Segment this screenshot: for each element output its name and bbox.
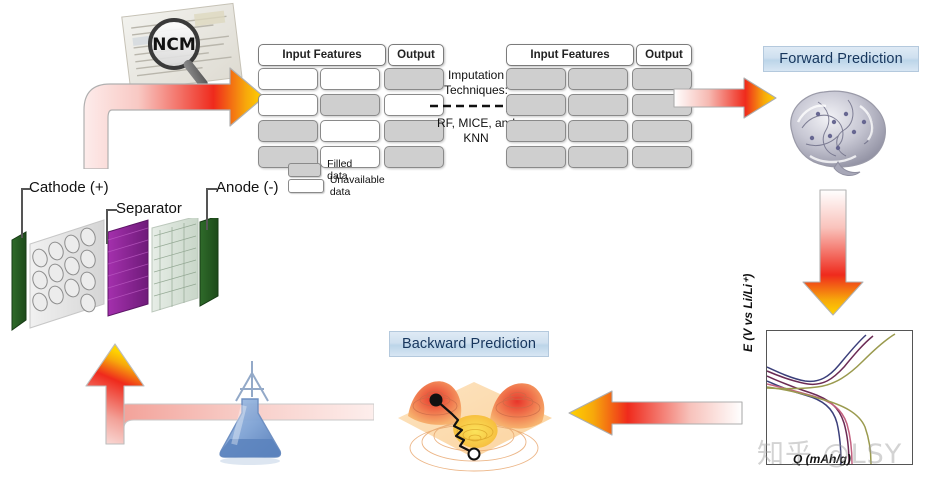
backward-prediction-banner: Backward Prediction [389, 331, 549, 357]
legend-swatch-unavailable [288, 179, 324, 193]
watermark: 知乎 @LSY [757, 432, 902, 471]
table-left-header-input: Input Features [258, 44, 386, 66]
legend-label-unavailable: Unavailable data [330, 174, 393, 198]
battery-label-separator: Separator [116, 200, 182, 217]
table-row [320, 68, 380, 90]
table-row [568, 146, 628, 168]
start-point-marker [430, 394, 443, 407]
table-row [506, 120, 566, 142]
battery-label-anode: Anode (-) [216, 179, 279, 196]
leader-line-anode-vert [206, 188, 208, 230]
table-row [568, 120, 628, 142]
forward-prediction-banner: Forward Prediction [763, 46, 919, 72]
table-right-header-output: Output [636, 44, 692, 66]
table-row [632, 120, 692, 142]
table-row [384, 146, 444, 168]
leader-line-separator-vert [106, 209, 108, 244]
chart-y-axis-label: E (V vs Li/Li⁺) [741, 274, 755, 352]
table-row [632, 146, 692, 168]
table-left-header-output: Output [388, 44, 444, 66]
arrow-forward-to-chart [797, 188, 869, 318]
erlenmeyer-flask-image [200, 355, 300, 465]
leader-line-separator [106, 209, 117, 211]
table-row [258, 68, 318, 90]
arrow-data-to-table [78, 64, 268, 169]
table-row [506, 68, 566, 90]
table-row [320, 94, 380, 116]
leader-line-anode [206, 188, 217, 190]
table-row [506, 94, 566, 116]
table-row [568, 68, 628, 90]
optimization-landscape-image [392, 362, 557, 482]
battery-label-cathode: Cathode (+) [29, 179, 109, 196]
brain-neural-network-image [772, 78, 908, 180]
table-row [258, 120, 318, 142]
table-row [568, 94, 628, 116]
optimum-point-marker [469, 449, 480, 460]
table-row [506, 146, 566, 168]
battery-schematic-image [8, 218, 230, 350]
table-right-header-input: Input Features [506, 44, 634, 66]
ncm-magnifier-label: NCM [152, 35, 196, 55]
table-row [258, 94, 318, 116]
table-row [320, 120, 380, 142]
arrow-table-to-forward [672, 76, 778, 120]
arrow-chart-to-backward [566, 388, 744, 438]
leader-line-cathode-vert [21, 188, 23, 238]
